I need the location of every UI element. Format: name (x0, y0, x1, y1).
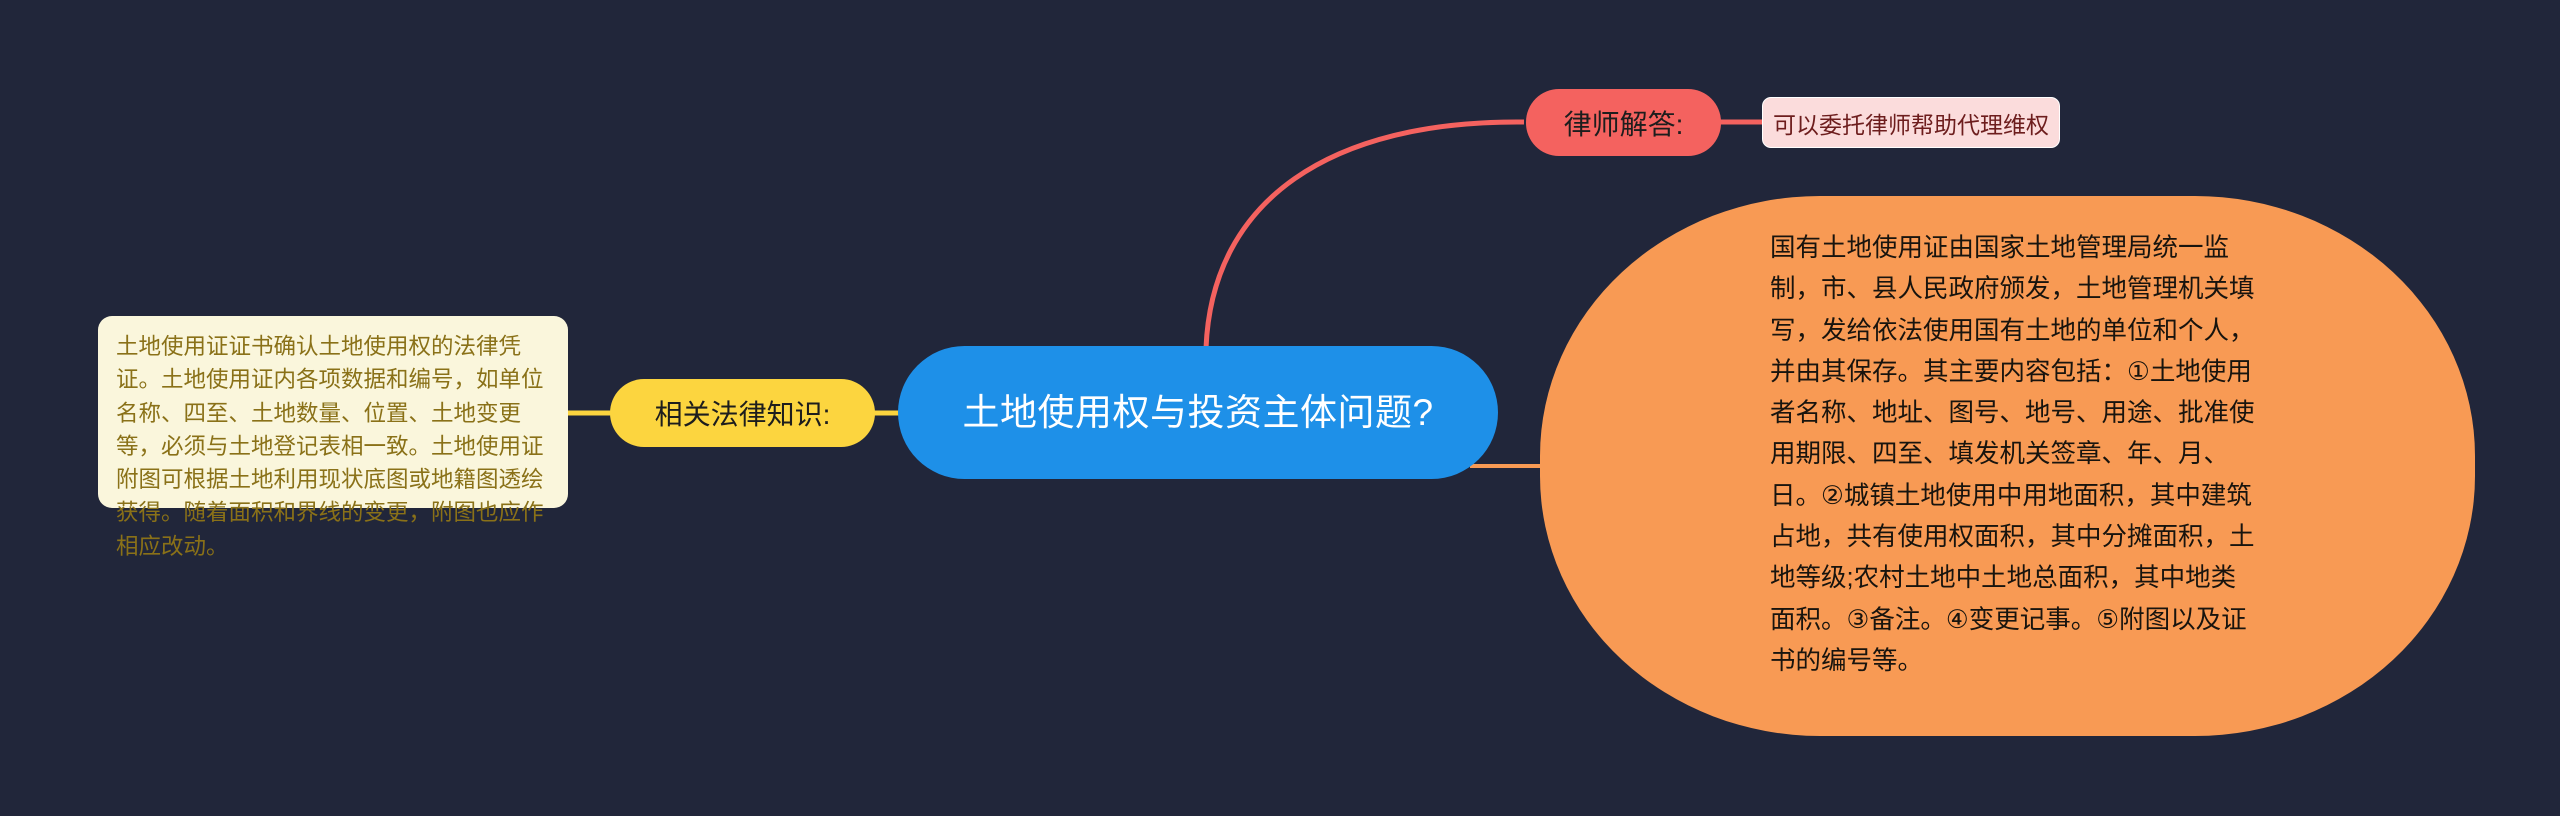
note-land-certificate-text: 国有土地使用证由国家土地管理局统一监制，市、县人民政府颁发，土地管理机关填写，发… (1770, 228, 2260, 682)
note-lawyer-answer-text: 可以委托律师帮助代理维权 (1773, 106, 2049, 140)
note-legal-knowledge-text: 土地使用证证书确认土地使用权的法律凭证。土地使用证内各项数据和编号，如单位名称、… (116, 334, 544, 559)
note-land-certificate[interactable]: 国有土地使用证由国家土地管理局统一监制，市、县人民政府颁发，土地管理机关填写，发… (1540, 196, 2475, 736)
central-topic-label: 土地使用权与投资主体问题? (962, 389, 1433, 436)
branch-lawyer-answer-label: 律师解答: (1564, 103, 1684, 143)
branch-legal-knowledge[interactable]: 相关法律知识: (610, 379, 875, 447)
note-legal-knowledge[interactable]: 土地使用证证书确认土地使用权的法律凭证。土地使用证内各项数据和编号，如单位名称、… (98, 316, 568, 508)
mindmap-canvas: 土地使用证证书确认土地使用权的法律凭证。土地使用证内各项数据和编号，如单位名称、… (0, 0, 2560, 816)
central-topic[interactable]: 土地使用权与投资主体问题? (898, 346, 1498, 479)
connector-central-to-red (1206, 122, 1524, 348)
branch-legal-knowledge-label: 相关法律知识: (655, 393, 831, 433)
note-lawyer-answer[interactable]: 可以委托律师帮助代理维权 (1762, 97, 2060, 148)
branch-lawyer-answer[interactable]: 律师解答: (1526, 89, 1721, 156)
